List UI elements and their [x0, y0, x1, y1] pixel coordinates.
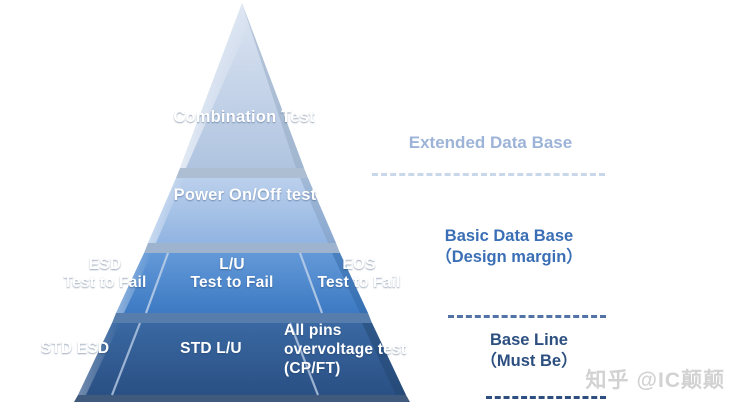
pyramid-tier-2[interactable]	[144, 178, 340, 253]
pyramid-tier-1[interactable]	[176, 3, 308, 178]
dashed-separator-top	[372, 173, 605, 176]
side-label-basic-data-base: Basic Data Base （Design margin）	[398, 226, 620, 267]
pyramid-graphic	[0, 0, 735, 412]
watermark: 知乎 @IC颠颠	[586, 364, 725, 394]
watermark-logo: 知乎	[586, 364, 630, 394]
dashed-separator-middle	[448, 315, 606, 318]
pyramid-tier-3[interactable]	[112, 253, 372, 323]
pyramid-tier-4[interactable]	[74, 323, 410, 402]
watermark-handle: @IC颠颠	[637, 364, 725, 394]
dashed-separator-bottom	[486, 396, 606, 399]
pyramid-diagram-canvas: Combination Test Power On/Off test ESD T…	[0, 0, 735, 412]
side-label-extended-data-base: Extended Data Base	[368, 132, 613, 153]
